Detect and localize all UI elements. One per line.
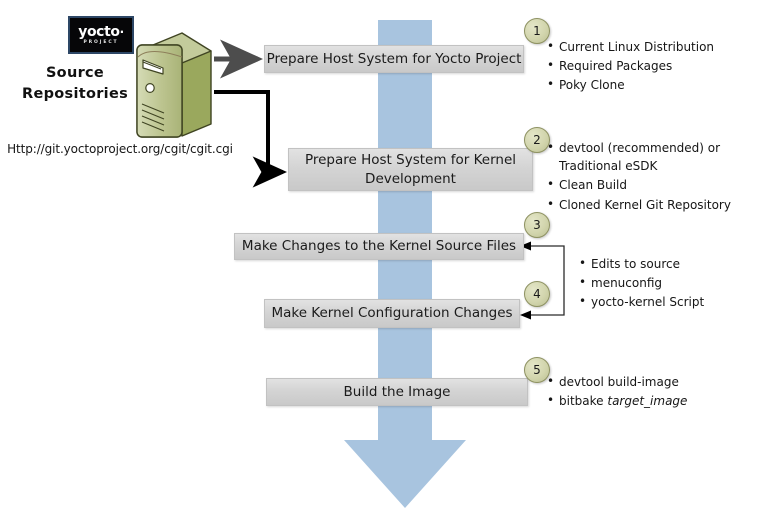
step-badge-3: 3 xyxy=(524,212,550,238)
list-item: Clean Build xyxy=(546,176,760,194)
bitbake-target-arg: target_image xyxy=(607,394,687,408)
bullet-list-steps-3-4: Edits to source menuconfig yocto-kernel … xyxy=(578,255,758,313)
process-box-step5[interactable]: Build the Image xyxy=(266,378,528,406)
bullet-list-step5: devtool build-image bitbake target_image xyxy=(546,373,746,411)
yocto-logo-text: yocto xyxy=(78,24,119,40)
source-repositories-label: Source Repositories xyxy=(12,63,138,104)
list-item: Edits to source xyxy=(578,255,758,273)
arrow-server-to-step2 xyxy=(214,92,283,172)
yocto-logo-dot: · xyxy=(120,25,124,39)
list-item: Cloned Kernel Git Repository xyxy=(546,196,760,214)
process-box-step3[interactable]: Make Changes to the Kernel Source Files xyxy=(234,233,524,260)
bullet-list-step2: devtool (recommended) or Traditional eSD… xyxy=(546,139,760,215)
source-repositories-label-line1: Source xyxy=(12,63,138,84)
list-item: menuconfig xyxy=(578,274,758,292)
list-item: devtool build-image xyxy=(546,373,746,391)
process-box-step1[interactable]: Prepare Host System for Yocto Project xyxy=(264,45,524,73)
arrowhead-step4 xyxy=(520,311,531,320)
source-repositories-label-line2: Repositories xyxy=(12,84,138,105)
server-tower-icon xyxy=(133,31,215,143)
process-box-step4[interactable]: Make Kernel Configuration Changes xyxy=(264,299,520,328)
yocto-project-logo: yocto· PROJECT xyxy=(68,16,134,54)
list-item: Current Linux Distribution xyxy=(546,38,758,56)
bitbake-command: bitbake xyxy=(559,394,607,408)
bullet-list-step1: Current Linux Distribution Required Pack… xyxy=(546,38,758,96)
list-item: devtool (recommended) or Traditional eSD… xyxy=(546,139,760,175)
list-item: Poky Clone xyxy=(546,76,758,94)
diagram-canvas: yocto· PROJECT Source Repositories xyxy=(0,0,769,517)
step-badge-4: 4 xyxy=(524,281,550,307)
flow-arrow-background xyxy=(335,20,475,510)
source-repositories-url: Http://git.yoctoproject.org/cgit/cgit.cg… xyxy=(4,142,236,156)
list-item: yocto-kernel Script xyxy=(578,293,758,311)
yocto-logo-subtext: PROJECT xyxy=(83,41,118,46)
process-box-step2[interactable]: Prepare Host System for Kernel Developme… xyxy=(288,148,533,191)
list-item: bitbake target_image xyxy=(546,392,746,410)
yocto-logo-wordmark: yocto· xyxy=(78,25,124,39)
list-item: Required Packages xyxy=(546,57,758,75)
